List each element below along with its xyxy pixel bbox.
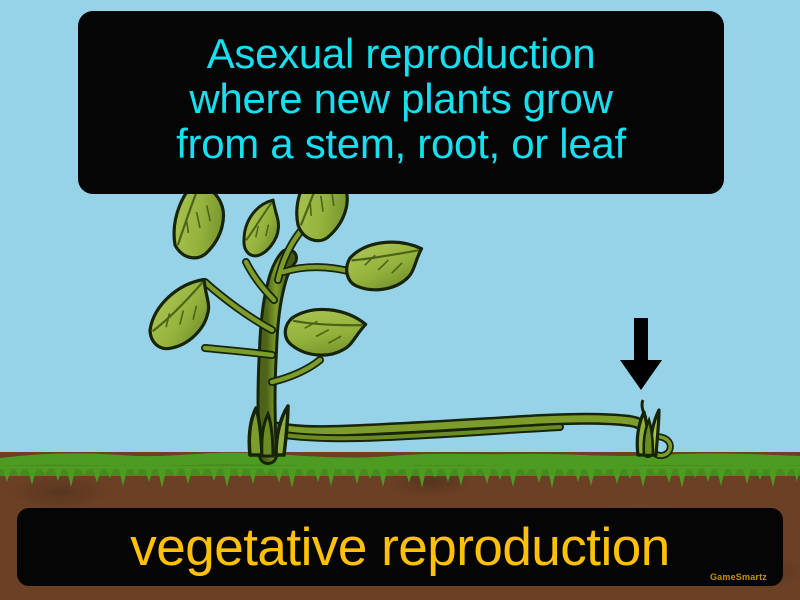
leaf-upper-middle [234,200,288,259]
term-title-box: vegetative reproduction GameSmartz [17,508,783,586]
leaf-right [343,233,422,299]
watermark-label: GameSmartz [710,572,767,582]
stolon-runner [264,419,670,456]
down-arrow-icon [618,318,664,392]
definition-card: Asexual reproduction where new plants gr… [0,0,800,600]
basal-sheath [249,406,288,456]
term-title: vegetative reproduction [130,521,669,574]
definition-text: Asexual reproduction where new plants gr… [176,32,626,167]
new-plantlet [637,400,659,455]
definition-box: Asexual reproduction where new plants gr… [78,11,724,194]
